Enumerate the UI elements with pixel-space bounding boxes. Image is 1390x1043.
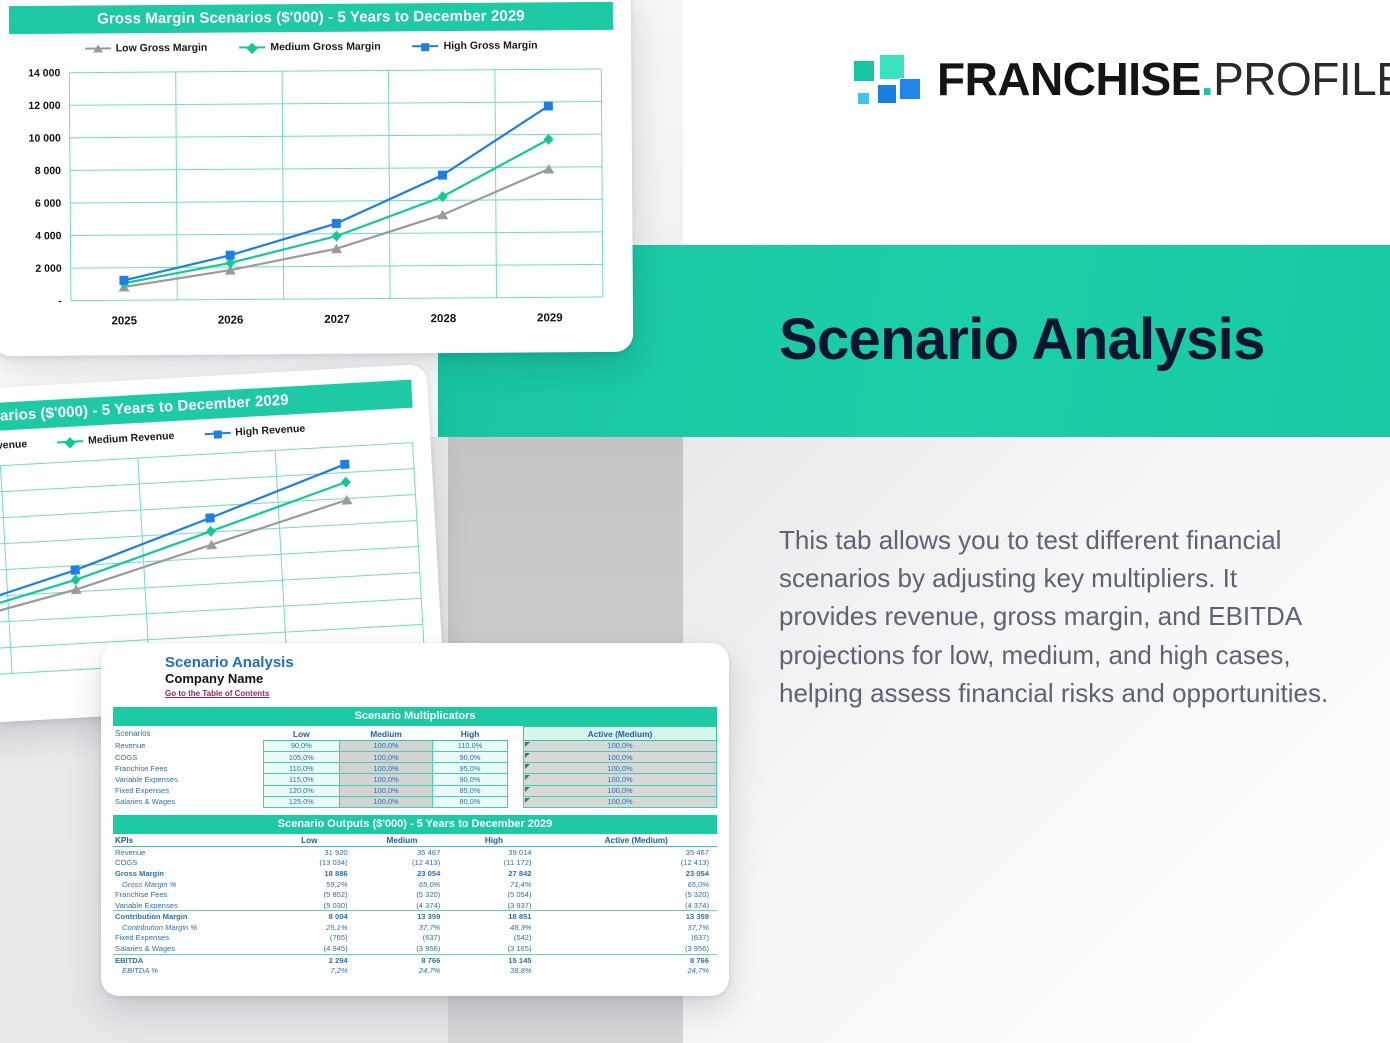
cell-medium: (12 413) <box>356 858 449 869</box>
cell-low: (5 030) <box>263 900 356 911</box>
background-top-right-panel <box>683 0 1390 245</box>
svg-text:10 000: 10 000 <box>29 132 61 144</box>
cell-active[interactable]: 100,0% <box>524 763 717 774</box>
cell-medium: 65,0% <box>356 879 449 890</box>
table-header-row: Scenarios Low Medium High Active (Medium… <box>113 727 717 741</box>
cell-medium: 37,7% <box>356 922 449 933</box>
row-label: Revenue <box>113 740 263 751</box>
svg-text:2027: 2027 <box>324 314 350 326</box>
table-row: Gross Margin18 88623 05427 84223 054 <box>113 868 717 879</box>
row-label: Fixed Expenses <box>113 785 263 796</box>
gross-margin-chart-card[interactable]: Gross Margin Scenarios ($'000) - 5 Years… <box>0 0 633 356</box>
cell-high: (5 054) <box>448 889 539 900</box>
scenario-multiplicators-table: Scenarios Low Medium High Active (Medium… <box>113 726 717 808</box>
table-row: Franchise Fees(5 852)(5 320)(5 054)(5 32… <box>113 889 717 900</box>
svg-text:6 000: 6 000 <box>35 198 62 210</box>
legend-item-high-gross-margin[interactable]: High Gross Margin <box>413 39 538 52</box>
cell-medium: 23 054 <box>356 868 449 879</box>
active-flag-icon <box>525 787 530 792</box>
cell-high: 18 851 <box>448 911 539 922</box>
table-row: Revenue31 92035 46739 01435 467 <box>113 846 717 857</box>
scenario-outputs-table: KPIs Low Medium High Active (Medium) Rev… <box>113 834 717 976</box>
cell-medium[interactable]: 100,0% <box>340 751 433 762</box>
logo-bold-text: FRANCHISE <box>937 53 1201 105</box>
row-label: Contribution Margin % <box>113 922 263 933</box>
cell-low[interactable]: 105,0% <box>263 751 340 762</box>
cell-medium: (5 320) <box>356 889 449 900</box>
slide-canvas: FRANCHISE.PROFILES Scenario Analysis Thi… <box>0 0 1390 1043</box>
cell-high: (3 937) <box>448 900 539 911</box>
cell-high: 38,8% <box>448 965 539 976</box>
table-header-row: KPIs Low Medium High Active (Medium) <box>113 834 717 847</box>
gross-margin-plot-area: -2 0004 0006 0008 00010 00012 00014 0002… <box>0 55 633 351</box>
cell-low: (5 852) <box>263 889 356 900</box>
row-label: Revenue <box>113 846 263 857</box>
table-row: Contribution Margin %25,1%37,7%48,3%37,7… <box>113 922 717 933</box>
cell-high: 48,3% <box>448 922 539 933</box>
cell-medium: 8 766 <box>356 954 449 965</box>
column-header-high[interactable]: High <box>448 834 539 847</box>
legend-label: Medium Gross Margin <box>270 41 380 54</box>
active-flag-icon <box>525 798 530 803</box>
table-row: EBITDA %7,2%24,7%38,8%24,7% <box>113 965 717 976</box>
cell-active: (637) <box>556 933 717 944</box>
cell-high: 39 014 <box>448 846 539 857</box>
cell-medium: 13 359 <box>356 911 449 922</box>
row-label: Gross Margin <box>113 868 263 879</box>
cell-high: (3 165) <box>448 943 539 954</box>
logo-wordmark: FRANCHISE.PROFILES <box>937 56 1390 102</box>
legend-label: High Revenue <box>235 423 306 439</box>
svg-text:12 000: 12 000 <box>28 100 60 112</box>
row-label: Fixed Expenses <box>113 933 263 944</box>
logo-dot: . <box>1201 53 1213 105</box>
cell-high[interactable]: 85,0% <box>433 785 508 796</box>
row-label: Contribution Margin <box>113 911 263 922</box>
column-header-active[interactable]: Active (Medium) <box>524 727 717 741</box>
column-header-low[interactable]: Low <box>263 727 340 741</box>
cell-medium: 24,7% <box>356 965 449 976</box>
row-label: COGS <box>113 751 263 762</box>
logo-thin-text: PROFILES <box>1213 53 1390 105</box>
legend-item-high-revenue[interactable]: High Revenue <box>204 423 306 441</box>
svg-text:2025: 2025 <box>111 315 137 327</box>
row-label: Variable Expenses <box>113 900 263 911</box>
cell-high: 15 145 <box>448 954 539 965</box>
row-label: Salaries & Wages <box>113 796 263 807</box>
table-of-contents-link[interactable]: Go to the Table of Contents <box>165 688 717 701</box>
cell-active: 35 467 <box>556 846 717 857</box>
legend-label: Medium Revenue <box>88 430 175 447</box>
gross-margin-chart-title: Gross Margin Scenarios ($'000) - 5 Years… <box>9 2 613 34</box>
cell-active: 37,7% <box>556 922 717 933</box>
table-row: EBITDA2 2948 76615 1458 766 <box>113 954 717 965</box>
row-label: Salaries & Wages <box>113 943 263 954</box>
svg-text:-: - <box>58 295 62 307</box>
table-row: COGS(13 034)(12 413)(11 172)(12 413) <box>113 858 717 869</box>
page-description: This tab allows you to test different fi… <box>779 521 1339 712</box>
brand-logo: FRANCHISE.PROFILES <box>851 48 1351 110</box>
cell-active[interactable]: 100,0% <box>524 774 717 785</box>
cell-high: 71,4% <box>448 879 539 890</box>
row-label: EBITDA <box>113 954 263 965</box>
cell-medium: (4 374) <box>356 900 449 911</box>
cell-active[interactable]: 100,0% <box>524 751 717 762</box>
table-row: Variable Expenses(5 030)(4 374)(3 937)(4… <box>113 900 717 911</box>
scenario-outputs-band: Scenario Outputs ($'000) - 5 Years to De… <box>113 815 717 834</box>
cell-active: 24,7% <box>556 965 717 976</box>
cell-medium[interactable]: 100,0% <box>340 740 433 751</box>
column-header-medium[interactable]: Medium <box>356 834 449 847</box>
cell-medium[interactable]: 100,0% <box>340 785 433 796</box>
cell-high[interactable]: 80,0% <box>433 796 508 807</box>
svg-text:2029: 2029 <box>537 312 563 324</box>
cell-active[interactable]: 100,0% <box>524 785 717 796</box>
table-row: Fixed Expenses(765)(637)(542)(637) <box>113 933 717 944</box>
column-header-medium[interactable]: Medium <box>340 727 433 741</box>
cell-medium[interactable]: 100,0% <box>340 763 433 774</box>
cell-active: 8 766 <box>556 954 717 965</box>
cell-active: 13 359 <box>556 911 717 922</box>
legend-label: Low Gross Margin <box>116 42 208 55</box>
svg-text:2028: 2028 <box>431 313 457 325</box>
page-title: Scenario Analysis <box>779 308 1379 372</box>
cell-medium[interactable]: 100,0% <box>340 796 433 807</box>
svg-text:8 000: 8 000 <box>35 165 62 177</box>
table-row: Revenue90,0%100,0%110,0%100,0% <box>113 740 717 751</box>
cell-medium[interactable]: 100,0% <box>340 774 433 785</box>
cell-low: (13 034) <box>263 858 356 869</box>
sheet-company-name: Company Name <box>165 671 717 687</box>
row-label: Gross Margin % <box>113 879 263 890</box>
cell-low: 31 920 <box>263 846 356 857</box>
active-flag-icon <box>525 775 530 780</box>
row-label: EBITDA % <box>113 965 263 976</box>
scenario-multiplicators-band: Scenario Multiplicators <box>113 707 717 726</box>
outputs-row-header: KPIs <box>113 834 263 847</box>
table-row: Variable Expenses115,0%100,0%90,0%100,0% <box>113 774 717 785</box>
cell-medium: (3 956) <box>356 943 449 954</box>
cell-high: (542) <box>448 933 539 944</box>
table-row: Salaries & Wages125,0%100,0%80,0%100,0% <box>113 796 717 807</box>
legend-item-low-revenue[interactable]: Low Revenue <box>0 438 28 455</box>
svg-text:4 000: 4 000 <box>35 230 62 242</box>
cell-high: (11 172) <box>448 858 539 869</box>
cell-low[interactable]: 90,0% <box>263 740 340 751</box>
cell-low: 8 004 <box>263 911 356 922</box>
legend-item-medium-gross-margin[interactable]: Medium Gross Margin <box>239 41 380 54</box>
svg-text:2026: 2026 <box>218 314 244 326</box>
scenario-analysis-sheet-card[interactable]: Scenario Analysis Company Name Go to the… <box>101 643 729 996</box>
cell-medium: (637) <box>356 933 449 944</box>
cell-low[interactable]: 120,0% <box>263 785 340 796</box>
cell-high[interactable]: 95,0% <box>433 763 508 774</box>
legend-label: Low Revenue <box>0 438 28 454</box>
table-row: Gross Margin %59,2%65,0%71,4%65,0% <box>113 879 717 890</box>
cell-active: 23 054 <box>556 868 717 879</box>
row-label: COGS <box>113 858 263 869</box>
cell-active[interactable]: 100,0% <box>524 796 717 807</box>
svg-text:2 000: 2 000 <box>35 263 62 275</box>
table-row: Fixed Expenses120,0%100,0%85,0%100,0% <box>113 785 717 796</box>
cell-low: 59,2% <box>263 879 356 890</box>
cell-high[interactable]: 90,0% <box>433 751 508 762</box>
logo-squares-icon <box>851 54 907 104</box>
cell-low: 25,1% <box>263 922 356 933</box>
legend-label: High Gross Margin <box>444 39 538 52</box>
cell-active: (4 374) <box>556 900 717 911</box>
column-header-high[interactable]: High <box>433 727 508 741</box>
table-row: Franchise Fees110,0%100,0%95,0%100,0% <box>113 763 717 774</box>
cell-low[interactable]: 125,0% <box>263 796 340 807</box>
cell-active[interactable]: 100,0% <box>524 740 717 751</box>
cell-low: 7,2% <box>263 965 356 976</box>
legend-item-medium-revenue[interactable]: Medium Revenue <box>57 430 175 449</box>
cell-high[interactable]: 90,0% <box>433 774 508 785</box>
cell-medium: 35 467 <box>356 846 449 857</box>
table-row: Contribution Margin8 00413 35918 85113 3… <box>113 911 717 922</box>
svg-text:14 000: 14 000 <box>28 67 60 79</box>
active-flag-icon <box>525 764 530 769</box>
active-flag-icon <box>525 753 530 758</box>
cell-low: (765) <box>263 933 356 944</box>
cell-active: 65,0% <box>556 879 717 890</box>
sheet-heading: Scenario Analysis <box>165 654 717 671</box>
cell-low: (4 945) <box>263 943 356 954</box>
cell-active: (3 956) <box>556 943 717 954</box>
legend-item-low-gross-margin[interactable]: Low Gross Margin <box>85 42 208 55</box>
cell-low: 18 886 <box>263 868 356 879</box>
cell-high: 27 842 <box>448 868 539 879</box>
column-header-active[interactable]: Active (Medium) <box>556 834 717 847</box>
table-row: COGS105,0%100,0%90,0%100,0% <box>113 751 717 762</box>
row-label: Franchise Fees <box>113 889 263 900</box>
table-row: Salaries & Wages(4 945)(3 956)(3 165)(3 … <box>113 943 717 954</box>
cell-low[interactable]: 110,0% <box>263 763 340 774</box>
cell-low[interactable]: 115,0% <box>263 774 340 785</box>
cell-active: (12 413) <box>556 858 717 869</box>
multiplicators-row-header: Scenarios <box>113 727 263 741</box>
column-header-low[interactable]: Low <box>263 834 356 847</box>
row-label: Franchise Fees <box>113 763 263 774</box>
cell-low: 2 294 <box>263 954 356 965</box>
active-flag-icon <box>525 742 530 747</box>
cell-active: (5 320) <box>556 889 717 900</box>
row-label: Variable Expenses <box>113 774 263 785</box>
cell-high[interactable]: 110,0% <box>433 740 508 751</box>
